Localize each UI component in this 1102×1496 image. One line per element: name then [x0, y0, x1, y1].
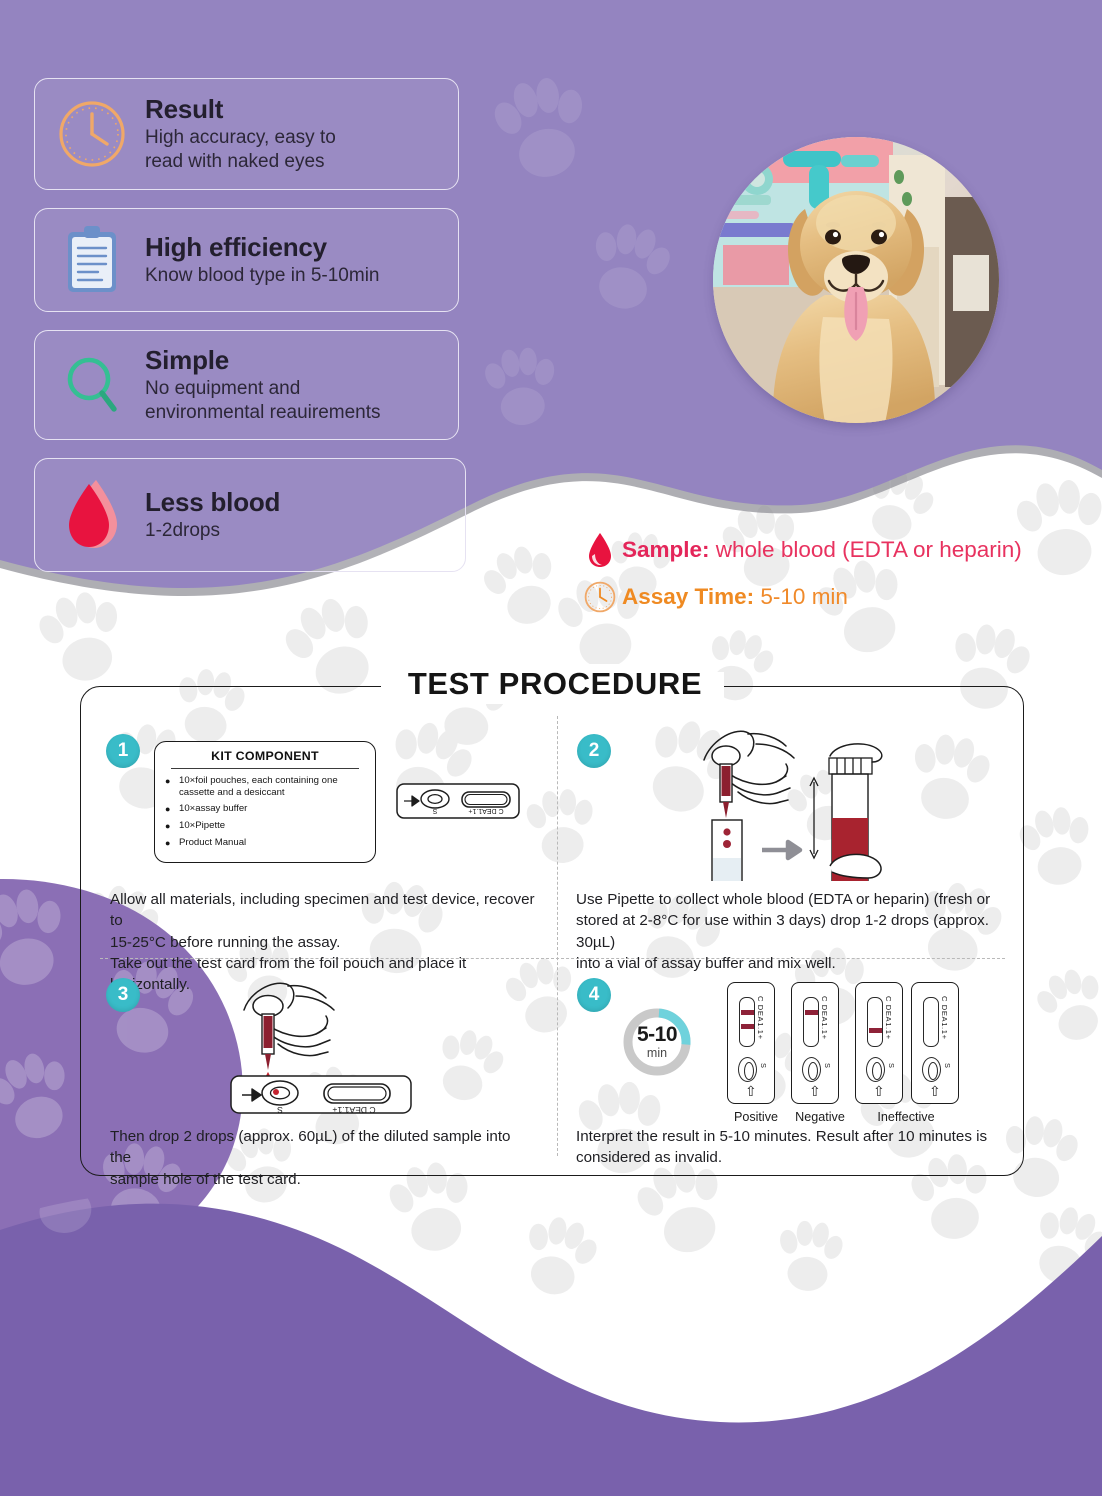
sample-hole-label: S	[943, 1063, 952, 1068]
cassette: C DEA1.1+ S ⇧	[855, 982, 903, 1104]
band-control	[741, 1010, 754, 1015]
sample-hole-label: S	[823, 1063, 832, 1068]
cassette-label: C DEA1.1+	[884, 996, 893, 1040]
cassette: C DEA1.1+ S ⇧	[791, 982, 839, 1104]
sample-hole	[802, 1057, 821, 1082]
sample-hole	[866, 1057, 885, 1082]
cassette: C DEA1.1+ S ⇧	[911, 982, 959, 1104]
timer-value: 5-10	[637, 1024, 677, 1045]
up-arrow-icon: ⇧	[929, 1084, 941, 1098]
sample-hole	[738, 1057, 757, 1082]
result-caption: Negative	[791, 1110, 849, 1124]
timer-ring: 5-10 min	[620, 1005, 694, 1079]
result-caption: Ineffective	[847, 1110, 965, 1124]
cassette-label: C DEA1.1+	[756, 996, 765, 1040]
step-4-text: Interpret the result in 5-10 minutes. Re…	[576, 1126, 1016, 1169]
up-arrow-icon: ⇧	[873, 1084, 885, 1098]
step-4-number: 4	[577, 978, 611, 1012]
band-dea11	[741, 1024, 754, 1029]
result-strip-row: C DEA1.1+ S ⇧ Positive C DEA1.1+ S ⇧	[727, 982, 973, 1104]
cassette-label: C DEA1.1+	[820, 996, 829, 1040]
timer-unit: min	[647, 1047, 667, 1060]
cassette-label: C DEA1.1+	[940, 996, 949, 1040]
result-caption: Positive	[727, 1110, 785, 1124]
up-arrow-icon: ⇧	[809, 1084, 821, 1098]
infographic-page: Result High accuracy, easy to read with …	[0, 0, 1102, 1496]
sample-hole-label: S	[759, 1063, 768, 1068]
result-positive: C DEA1.1+ S ⇧ Positive	[727, 982, 785, 1104]
cassette: C DEA1.1+ S ⇧	[727, 982, 775, 1104]
result-window	[923, 997, 939, 1047]
result-negative: C DEA1.1+ S ⇧ Negative	[791, 982, 849, 1104]
result-window	[803, 997, 819, 1047]
result-ineffective: C DEA1.1+ S ⇧ C DEA1.1+ S ⇧ Ineffective	[855, 982, 973, 1104]
result-window	[867, 997, 883, 1047]
result-window	[739, 997, 755, 1047]
sample-hole-label: S	[887, 1063, 896, 1068]
page-title: TEST PROCEDURE	[396, 664, 714, 704]
band-dea11	[869, 1028, 882, 1033]
up-arrow-icon: ⇧	[745, 1084, 757, 1098]
step-4: 4 5-10 min C DEA1.1+	[0, 0, 1102, 1496]
band-control	[805, 1010, 818, 1015]
sample-hole	[922, 1057, 941, 1082]
